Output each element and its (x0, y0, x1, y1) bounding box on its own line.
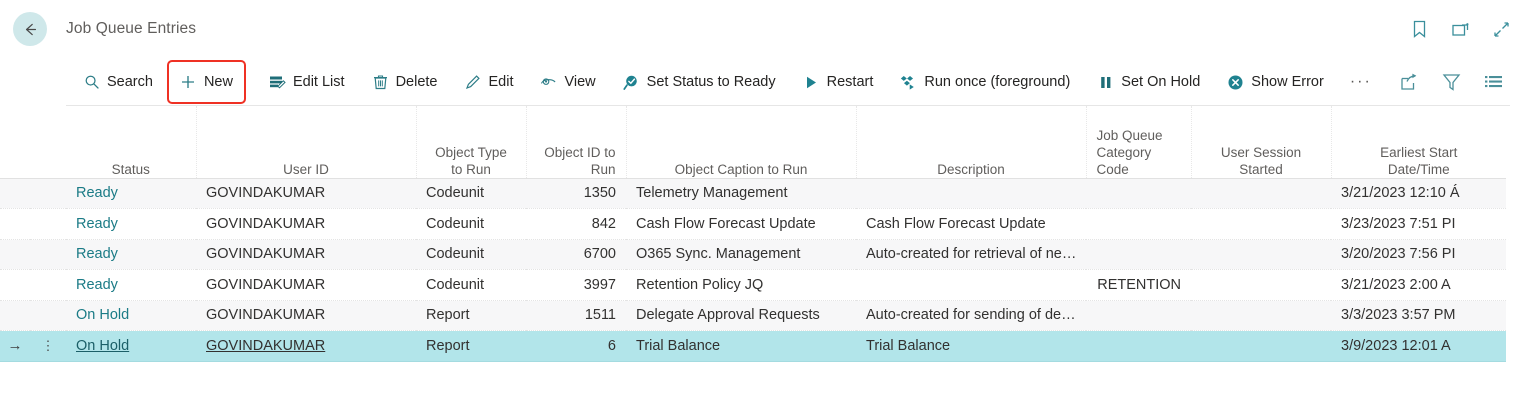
cell-category-code[interactable]: RETENTION (1086, 270, 1191, 301)
error-circle-icon (1227, 74, 1244, 91)
cell-object-caption[interactable]: Cash Flow Forecast Update (626, 209, 856, 240)
cell-earliest[interactable]: 3/9/2023 12:01 A (1331, 331, 1506, 362)
cell-earliest[interactable]: 3/21/2023 12:10 Á (1331, 178, 1506, 209)
cell-status[interactable]: Ready (66, 178, 196, 209)
show-error-label: Show Error (1251, 74, 1324, 90)
back-arrow-icon (21, 20, 40, 39)
restart-label: Restart (827, 74, 874, 90)
table-row-selected[interactable]: → ⋮ On Hold GOVINDAKUMAR Report 6 Trial … (0, 331, 1506, 362)
cell-status[interactable]: Ready (66, 239, 196, 270)
column-header-user-session-started-label: User Session Started (1192, 144, 1331, 178)
set-status-to-ready-button[interactable]: Set Status to Ready (614, 67, 785, 97)
cell-object-caption[interactable]: Delegate Approval Requests (626, 300, 856, 331)
column-header-earliest-start-date-time-label: Earliest Start Date/Time (1332, 144, 1507, 178)
column-header-object-id-to-run[interactable]: Object ID to Run (526, 106, 626, 178)
run-once-icon (900, 74, 917, 91)
cell-description[interactable]: Cash Flow Forecast Update (856, 209, 1086, 240)
row-indicator: → (0, 331, 30, 362)
row-menu (30, 270, 66, 301)
cell-object-caption[interactable]: Retention Policy JQ (626, 270, 856, 301)
cell-session[interactable] (1191, 300, 1331, 331)
column-header-status[interactable]: Status (66, 106, 196, 178)
title-bar: Job Queue Entries (0, 0, 1536, 58)
open-in-new-window-icon[interactable] (1449, 18, 1471, 40)
cell-user-id[interactable]: GOVINDAKUMAR (196, 270, 416, 301)
new-button-label: New (204, 74, 233, 90)
row-menu (30, 209, 66, 240)
run-once-foreground-label: Run once (foreground) (924, 74, 1070, 90)
cell-object-id[interactable]: 6700 (526, 239, 626, 270)
cell-session[interactable] (1191, 239, 1331, 270)
back-button[interactable] (13, 12, 47, 46)
row-indicator-header (0, 106, 30, 178)
set-status-to-ready-label: Set Status to Ready (647, 74, 776, 90)
cell-user-id[interactable]: GOVINDAKUMAR (196, 239, 416, 270)
table-header: Status User ID Object Type to Run Object… (0, 106, 1506, 178)
collapse-icon[interactable] (1490, 18, 1512, 40)
column-header-job-queue-category-code-label: Job Queue Category Code (1087, 127, 1191, 178)
job-queue-table: Status User ID Object Type to Run Object… (0, 106, 1506, 362)
cell-status[interactable]: Ready (66, 270, 196, 301)
cell-status[interactable]: On Hold (66, 331, 196, 362)
edit-list-button[interactable]: Edit List (260, 67, 354, 97)
cell-user-id[interactable]: GOVINDAKUMAR (196, 178, 416, 209)
column-header-user-session-started[interactable]: User Session Started (1191, 106, 1331, 178)
cell-user-id[interactable]: GOVINDAKUMAR (196, 300, 416, 331)
cell-object-id[interactable]: 842 (526, 209, 626, 240)
show-error-button[interactable]: Show Error (1218, 67, 1333, 97)
cell-object-id[interactable]: 1350 (526, 178, 626, 209)
pencil-icon (464, 74, 481, 91)
cell-description[interactable]: Auto-created for sending of de… (856, 300, 1086, 331)
search-action-label: Search (107, 74, 153, 90)
cell-earliest[interactable]: 3/21/2023 2:00 A (1331, 270, 1506, 301)
column-header-object-type-to-run[interactable]: Object Type to Run (416, 106, 526, 178)
cell-session[interactable] (1191, 209, 1331, 240)
row-indicator (0, 270, 30, 301)
set-ready-icon (623, 74, 640, 91)
column-header-user-id[interactable]: User ID (196, 106, 416, 178)
cell-status[interactable]: On Hold (66, 300, 196, 331)
share-icon[interactable] (1398, 71, 1420, 93)
delete-label: Delete (396, 74, 438, 90)
cell-session[interactable] (1191, 331, 1331, 362)
cell-category-code[interactable] (1086, 331, 1191, 362)
cell-object-type[interactable]: Report (416, 331, 526, 362)
cell-object-caption[interactable]: Trial Balance (626, 331, 856, 362)
cell-category-code[interactable] (1086, 239, 1191, 270)
filter-funnel-icon[interactable] (1440, 71, 1462, 93)
column-header-description-label: Description (857, 161, 1086, 178)
edit-list-icon (269, 74, 286, 91)
column-header-status-label: Status (66, 161, 196, 178)
search-action[interactable]: Search (74, 67, 162, 97)
plus-icon (180, 74, 197, 91)
table-row[interactable]: Ready GOVINDAKUMAR Codeunit 1350 Telemet… (0, 178, 1506, 209)
cell-description[interactable] (856, 178, 1086, 209)
search-icon (83, 74, 100, 91)
cell-category-code[interactable] (1086, 209, 1191, 240)
new-button[interactable]: New (171, 67, 242, 97)
row-menu-header (30, 106, 66, 178)
column-header-object-type-to-run-label: Object Type to Run (417, 144, 526, 178)
cell-object-caption[interactable]: O365 Sync. Management (626, 239, 856, 270)
action-bar-right-icons (1398, 71, 1504, 93)
vertical-dots-icon: ⋮ (30, 340, 66, 352)
cell-description[interactable]: Trial Balance (856, 331, 1086, 362)
edit-button[interactable]: Edit (455, 67, 522, 97)
cell-earliest[interactable]: 3/3/2023 3:57 PM (1331, 300, 1506, 331)
window-controls (1408, 0, 1512, 58)
cell-category-code[interactable] (1086, 300, 1191, 331)
cell-user-id[interactable]: GOVINDAKUMAR (196, 209, 416, 240)
table-row[interactable]: Ready GOVINDAKUMAR Codeunit 842 Cash Flo… (0, 209, 1506, 240)
column-header-earliest-start-date-time[interactable]: Earliest Start Date/Time (1331, 106, 1506, 178)
table-body: Ready GOVINDAKUMAR Codeunit 1350 Telemet… (0, 178, 1506, 361)
edit-list-label: Edit List (293, 74, 345, 90)
cell-object-caption[interactable]: Telemetry Management (626, 178, 856, 209)
cell-object-type[interactable]: Codeunit (416, 178, 526, 209)
current-row-arrow-icon: → (0, 338, 30, 353)
cell-category-code[interactable] (1086, 178, 1191, 209)
pause-icon (1097, 74, 1114, 91)
action-bar: Search New Edit List (0, 58, 1536, 106)
column-header-user-id-label: User ID (197, 161, 416, 178)
delete-button[interactable]: Delete (363, 67, 447, 97)
edit-label: Edit (488, 74, 513, 90)
list-options-icon[interactable] (1482, 71, 1504, 93)
cell-earliest[interactable]: 3/23/2023 7:51 PI (1331, 209, 1506, 240)
table-row[interactable]: Ready GOVINDAKUMAR Codeunit 6700 O365 Sy… (0, 239, 1506, 270)
restart-button[interactable]: Restart (794, 67, 883, 97)
cell-earliest[interactable]: 3/20/2023 7:56 PI (1331, 239, 1506, 270)
column-header-object-caption-to-run[interactable]: Object Caption to Run (626, 106, 856, 178)
cell-status[interactable]: Ready (66, 209, 196, 240)
row-menu (30, 239, 66, 270)
job-queue-entries-grid: Status User ID Object Type to Run Object… (0, 106, 1536, 406)
cell-object-type[interactable]: Report (416, 300, 526, 331)
column-header-object-id-to-run-label: Object ID to Run (527, 144, 626, 178)
cell-object-id[interactable]: 1511 (526, 300, 626, 331)
row-menu (30, 178, 66, 209)
play-icon (803, 74, 820, 91)
cell-object-id[interactable]: 6 (526, 331, 626, 362)
column-header-job-queue-category-code[interactable]: Job Queue Category Code (1086, 106, 1191, 178)
row-indicator (0, 178, 30, 209)
cell-session[interactable] (1191, 178, 1331, 209)
cell-description[interactable] (856, 270, 1086, 301)
row-indicator (0, 209, 30, 240)
view-button[interactable]: View (531, 67, 604, 97)
run-once-foreground-button[interactable]: Run once (foreground) (891, 67, 1079, 97)
view-label: View (564, 74, 595, 90)
more-actions-button[interactable]: ··· (1342, 68, 1380, 96)
cell-description[interactable]: Auto-created for retrieval of ne… (856, 239, 1086, 270)
set-on-hold-button[interactable]: Set On Hold (1088, 67, 1209, 97)
cell-object-type[interactable]: Codeunit (416, 270, 526, 301)
row-indicator (0, 300, 30, 331)
cell-user-id[interactable]: GOVINDAKUMAR (196, 331, 416, 362)
bookmark-icon[interactable] (1408, 18, 1430, 40)
column-header-object-caption-to-run-label: Object Caption to Run (627, 161, 856, 178)
table-row[interactable]: On Hold GOVINDAKUMAR Report 1511 Delegat… (0, 300, 1506, 331)
set-on-hold-label: Set On Hold (1121, 74, 1200, 90)
cell-object-type[interactable]: Codeunit (416, 209, 526, 240)
table-row[interactable]: Ready GOVINDAKUMAR Codeunit 3997 Retenti… (0, 270, 1506, 301)
page-title: Job Queue Entries (66, 20, 196, 38)
trash-icon (372, 74, 389, 91)
cell-object-id[interactable]: 3997 (526, 270, 626, 301)
column-header-description[interactable]: Description (856, 106, 1086, 178)
eye-icon (540, 74, 557, 91)
row-indicator (0, 239, 30, 270)
row-menu (30, 300, 66, 331)
cell-session[interactable] (1191, 270, 1331, 301)
row-menu-button[interactable]: ⋮ (30, 331, 66, 362)
cell-object-type[interactable]: Codeunit (416, 239, 526, 270)
